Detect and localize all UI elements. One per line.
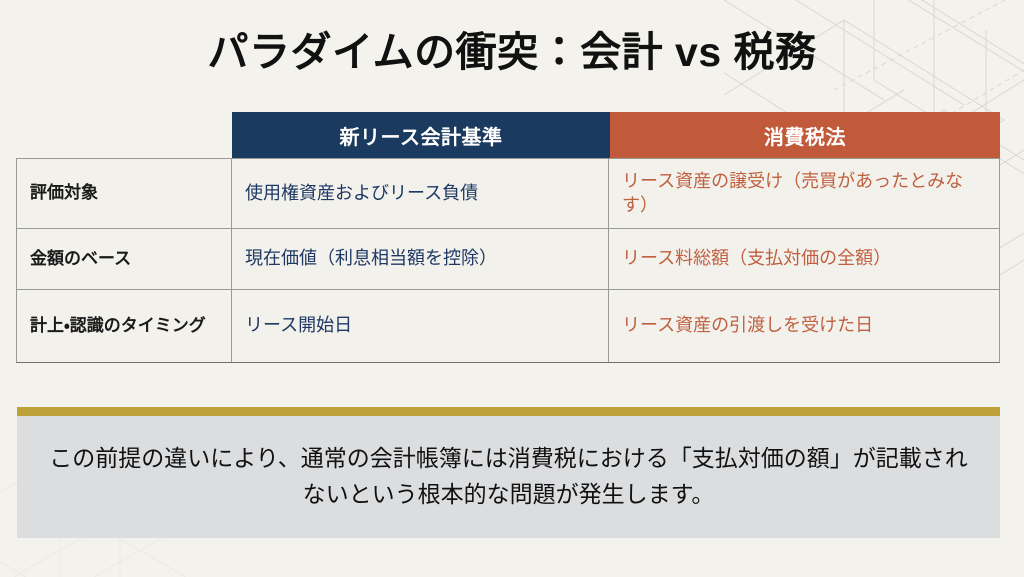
table-row: 評価対象 使用権資産およびリース負債 リース資産の譲受け（売買があったとみなす）: [17, 159, 999, 229]
callout-accent-bar: [17, 407, 1000, 416]
table-header-row: 新リース会計基準 消費税法: [16, 112, 1000, 158]
table-row: 計上・認識のタイミング リース開始日 リース資産の引渡しを受けた日: [17, 290, 999, 362]
row-accounting-amount-basis: 現在価値（利息相当額を控除）: [232, 229, 609, 289]
slide-canvas: パラダイムの衝突：会計 vs 税務 新リース会計基準 消費税法 評価対象 使用権…: [0, 0, 1024, 577]
row-accounting-recognition-timing: リース開始日: [232, 290, 609, 362]
table-header-tax: 消費税法: [610, 112, 1000, 158]
callout-body: この前提の違いにより、通常の会計帳簿には消費税における「支払対価の額」が記載され…: [17, 416, 1000, 538]
row-tax-amount-basis: リース料総額（支払対価の全額）: [609, 229, 999, 289]
table-row: 金額のベース 現在価値（利息相当額を控除） リース料総額（支払対価の全額）: [17, 229, 999, 290]
row-label-evaluation-target: 評価対象: [17, 159, 232, 228]
row-accounting-evaluation-target: 使用権資産およびリース負債: [232, 159, 609, 228]
row-tax-evaluation-target: リース資産の譲受け（売買があったとみなす）: [609, 159, 999, 228]
callout-text: この前提の違いにより、通常の会計帳簿には消費税における「支払対価の額」が記載され…: [45, 441, 972, 512]
callout-box: この前提の違いにより、通常の会計帳簿には消費税における「支払対価の額」が記載され…: [17, 407, 1000, 538]
row-tax-recognition-timing: リース資産の引渡しを受けた日: [609, 290, 999, 362]
comparison-table: 新リース会計基準 消費税法 評価対象 使用権資産およびリース負債 リース資産の譲…: [16, 112, 1000, 363]
table-body: 評価対象 使用権資産およびリース負債 リース資産の譲受け（売買があったとみなす）…: [16, 158, 1000, 363]
table-header-accounting: 新リース会計基準: [232, 112, 610, 158]
row-label-amount-basis: 金額のベース: [17, 229, 232, 289]
table-header-spacer: [16, 112, 232, 158]
row-label-recognition-timing: 計上・認識のタイミング: [17, 290, 232, 362]
page-title: パラダイムの衝突：会計 vs 税務: [0, 18, 1024, 78]
